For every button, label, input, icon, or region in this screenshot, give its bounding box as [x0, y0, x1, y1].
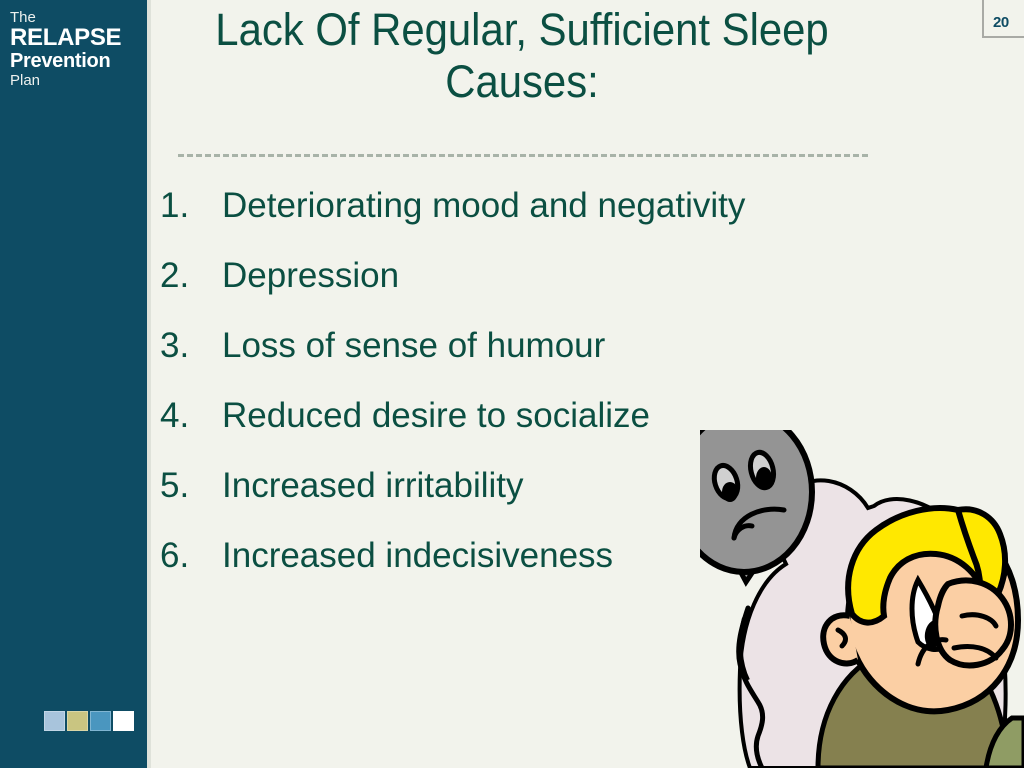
list-item-label: Increased indecisiveness	[222, 536, 613, 576]
list-item-label: Increased irritability	[222, 466, 524, 506]
causes-list: 1. Deteriorating mood and negativity 2. …	[160, 180, 860, 600]
list-item-number: 6.	[160, 536, 200, 576]
list-item: 6. Increased indecisiveness	[160, 530, 860, 600]
list-item-number: 5.	[160, 466, 200, 506]
logo-line-plan: Plan	[10, 73, 140, 88]
swatch-blue	[90, 711, 111, 731]
swatch-light-blue	[44, 711, 65, 731]
list-item: 3. Loss of sense of humour	[160, 320, 860, 390]
list-item-number: 2.	[160, 256, 200, 296]
person-eye	[912, 580, 946, 649]
list-item-label: Depression	[222, 256, 399, 296]
logo-block: The RELAPSE Prevention Plan	[10, 10, 140, 88]
person-frown	[918, 640, 946, 664]
logo-line-the: The	[10, 10, 140, 25]
list-item-label: Deteriorating mood and negativity	[222, 186, 745, 226]
person-hand	[935, 580, 1011, 665]
page-number: 20	[993, 14, 1009, 31]
person-hair	[848, 508, 1005, 623]
sidebar-edge-strip	[147, 0, 151, 768]
balloon-string	[739, 608, 763, 768]
logo-line-relapse: RELAPSE	[10, 26, 140, 50]
list-item: 1. Deteriorating mood and negativity	[160, 180, 860, 250]
logo-line-prevention: Prevention	[10, 51, 140, 71]
slide-canvas: The RELAPSE Prevention Plan 20 Lack Of R…	[0, 0, 1024, 768]
list-item: 4. Reduced desire to socialize	[160, 390, 860, 460]
swatch-khaki	[67, 711, 88, 731]
branding-sidebar: The RELAPSE Prevention Plan	[0, 0, 147, 768]
divider-dashed	[178, 154, 868, 157]
list-item: 2. Depression	[160, 250, 860, 320]
page-title: Lack Of Regular, Sufficient Sleep Causes…	[200, 4, 844, 108]
list-item: 5. Increased irritability	[160, 460, 860, 530]
swatch-white	[113, 711, 134, 731]
list-item-number: 1.	[160, 186, 200, 226]
list-item-label: Reduced desire to socialize	[222, 396, 650, 436]
list-item-label: Loss of sense of humour	[222, 326, 605, 366]
list-item-number: 4.	[160, 396, 200, 436]
person-shirt	[818, 656, 1024, 768]
page-number-box: 20	[982, 0, 1024, 38]
list-item-number: 3.	[160, 326, 200, 366]
swatch-strip	[44, 711, 134, 731]
